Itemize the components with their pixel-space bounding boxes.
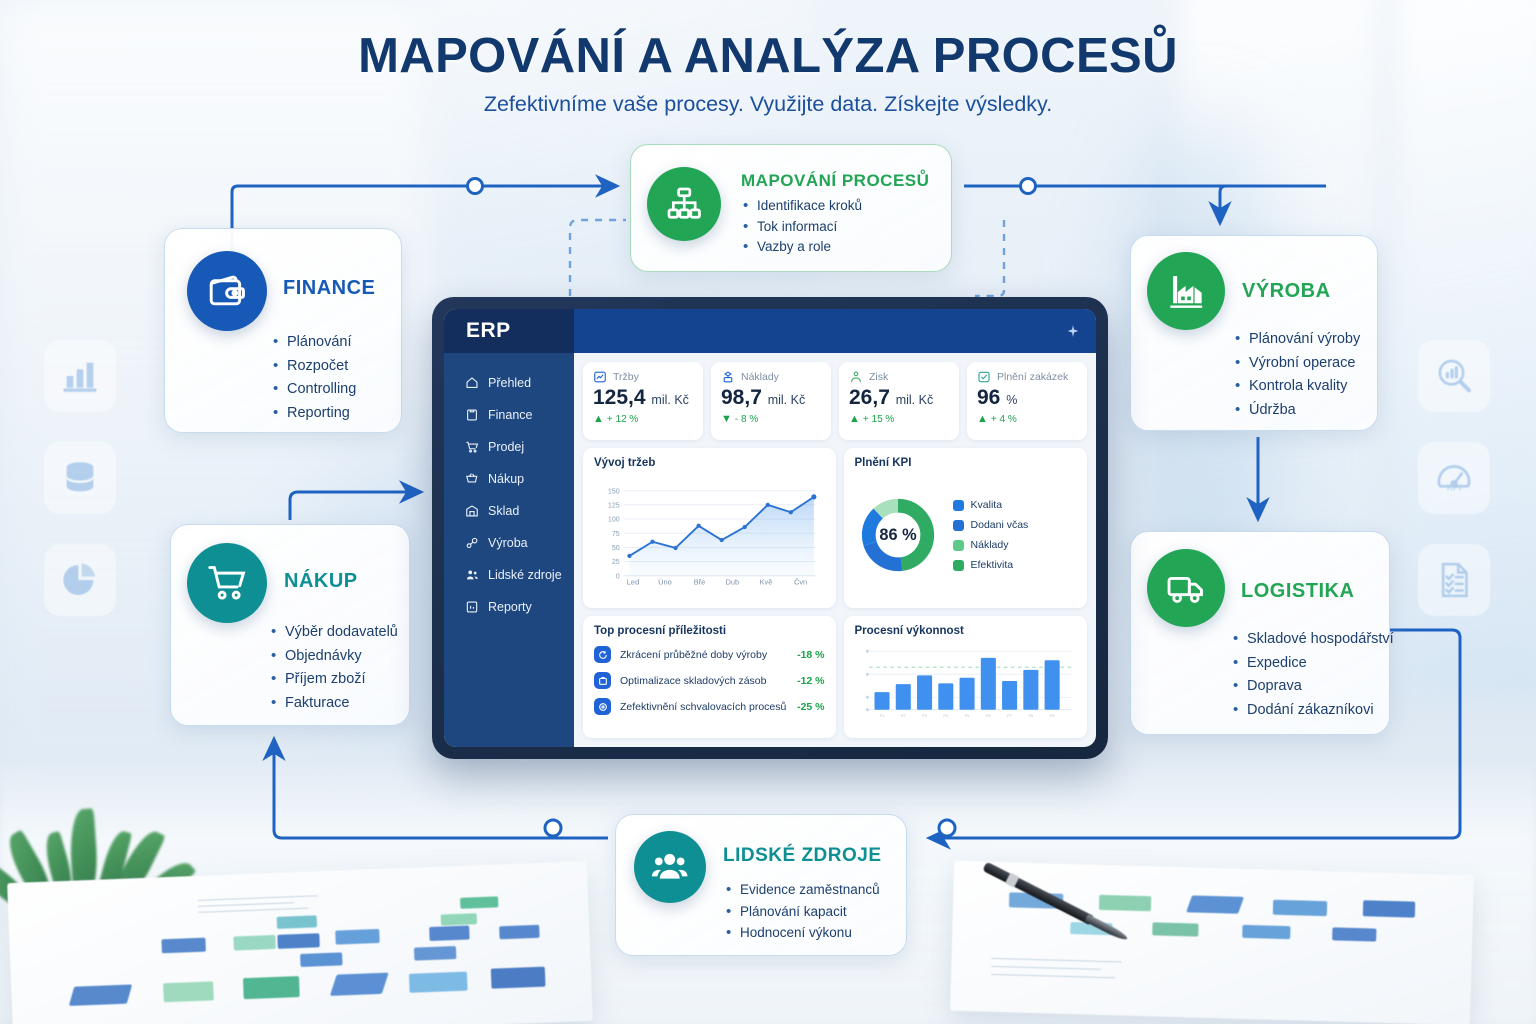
users-icon [465, 568, 479, 582]
sidebar-item-label: Prodej [488, 440, 524, 454]
list-item: Plánování kapacit [726, 905, 880, 919]
opportunity-value: -25 % [797, 701, 824, 713]
check-order-icon [977, 370, 991, 384]
kpi-header: Náklady [721, 370, 821, 384]
list-item: Rozpočet [273, 359, 356, 374]
legend-label: Kvalita [971, 499, 1003, 511]
card-bullet-list: Výběr dodavatelů Objednávky Příjem zboží… [271, 625, 398, 719]
kpi-delta: ▲+ 15 % [849, 413, 949, 425]
svg-text:P3: P3 [922, 713, 927, 718]
svg-text:Dub: Dub [725, 578, 739, 587]
trend-chart-icon [593, 370, 607, 384]
card-title: FINANCE [283, 277, 375, 300]
sparkle-icon [1066, 324, 1080, 338]
kpi-header: Plnění zakázek [977, 370, 1077, 384]
svg-text:P4: P4 [943, 713, 949, 718]
panel-procesni-vykonnost: Procesní výkonnost [844, 616, 1087, 738]
list-item: Tok informací [743, 220, 862, 234]
arrow-up-icon: ▲ [977, 413, 988, 425]
basket-icon [465, 472, 479, 486]
erp-application: ERP Přehled Finance Prodej [444, 309, 1096, 747]
kpi-delta-value: + 15 % [863, 414, 894, 425]
people-icon [634, 831, 706, 903]
kpi-card-zisk[interactable]: Zisk 26,7 mil. Kč ▲+ 15 % [839, 362, 959, 440]
sidebar-item-prehled[interactable]: Přehled [444, 367, 574, 399]
card-title: LIDSKÉ ZDROJE [723, 845, 882, 867]
svg-text:P5: P5 [964, 713, 969, 718]
legend-item: Dodani včas [953, 519, 1076, 531]
kpi-value: 96 % [977, 387, 1077, 409]
kpi-delta-value: + 4 % [991, 414, 1017, 425]
svg-text:P8: P8 [1028, 713, 1033, 718]
sitemap-icon [647, 167, 721, 241]
cost-stack-icon [721, 370, 735, 384]
card-logistika[interactable]: LOGISTIKA Skladové hospodářství Expedice… [1130, 531, 1390, 735]
card-bullet-list: Skladové hospodářství Expedice Doprava D… [1233, 632, 1394, 726]
svg-text:Čvn: Čvn [794, 578, 807, 587]
kpi-value: 26,7 mil. Kč [849, 387, 949, 409]
list-item: Evidence zaměstnanců [726, 883, 880, 897]
kpi-unit: % [1006, 393, 1017, 407]
sidebar-item-vyroba[interactable]: Výroba [444, 527, 574, 559]
legend-swatch [953, 560, 964, 571]
opportunity-label: Zkrácení průběžné doby výroby [620, 649, 788, 661]
svg-text:P2: P2 [900, 713, 905, 718]
sidebar-item-label: Přehled [488, 376, 531, 390]
kpi-value: 125,4 mil. Kč [593, 387, 693, 409]
svg-text:P7: P7 [1007, 713, 1012, 718]
arrow-up-icon: ▲ [849, 413, 860, 425]
x-axis-ticks: P1P2P3 P4P5P6 P7P8P9 [879, 713, 1054, 718]
kpi-label: Tržby [613, 371, 639, 383]
svg-text:Led: Led [627, 578, 639, 587]
kpi-header: Zisk [849, 370, 949, 384]
card-bullet-list: Plánování Rozpočet Controlling Reporting [273, 335, 356, 429]
kpi-card-plneni-zakazek[interactable]: Plnění zakázek 96 % ▲+ 4 % [967, 362, 1087, 440]
card-nakup[interactable]: NÁKUP Výběr dodavatelů Objednávky Příjem… [170, 524, 410, 726]
kpi-delta: ▲+ 12 % [593, 413, 693, 425]
legend-swatch [953, 500, 964, 511]
panel-title: Plnění KPI [855, 457, 1076, 469]
legend-label: Náklady [971, 539, 1009, 551]
legend-item: Kvalita [953, 499, 1076, 511]
list-item: Příjem zboží [271, 672, 398, 687]
list-item: Objednávky [271, 649, 398, 664]
target-icon [594, 698, 611, 715]
list-item: Expedice [1233, 656, 1394, 671]
printed-process-map-left [7, 861, 593, 1024]
kpi-card-row: Tržby 125,4 mil. Kč ▲+ 12 % Náklady 98,7… [583, 362, 1087, 440]
kpi-unit: mil. Kč [651, 393, 689, 407]
list-item: Identifikace kroků [743, 199, 862, 213]
kpi-card-trzby[interactable]: Tržby 125,4 mil. Kč ▲+ 12 % [583, 362, 703, 440]
card-vyroba[interactable]: VÝROBA Plánování výroby Výrobní operace … [1130, 235, 1378, 431]
bottom-row: Top procesní příležitosti Zkrácení průbě… [583, 616, 1087, 738]
erp-logo: ERP [444, 309, 574, 353]
svg-text:150: 150 [608, 487, 620, 495]
home-icon [465, 376, 479, 390]
erp-main-content: Tržby 125,4 mil. Kč ▲+ 12 % Náklady 98,7… [574, 353, 1096, 747]
opportunity-row[interactable]: Zkrácení průběžné doby výroby -18 % [594, 646, 825, 663]
bar-series [874, 658, 1059, 710]
kpi-unit: mil. Kč [896, 393, 934, 407]
opportunity-label: Optimalizace skladových zásob [620, 675, 788, 687]
report-icon [465, 600, 479, 614]
warehouse-icon [465, 504, 479, 518]
kpi-header: Tržby [593, 370, 693, 384]
card-title: MAPOVÁNÍ PROCESŮ [741, 171, 929, 191]
kpi-number: 98,7 [721, 386, 762, 409]
charts-row: Vývoj tržeb [583, 448, 1087, 608]
page-header: MAPOVÁNÍ A ANALÝZA PROCESŮ Zefektivníme … [0, 0, 1536, 117]
donut-chart-plneni-kpi: 86 % [855, 492, 941, 578]
list-item: Kontrola kvality [1235, 379, 1360, 394]
truck-icon [1147, 549, 1225, 627]
legend-swatch [953, 520, 964, 531]
panel-title: Top procesní příležitosti [594, 625, 825, 637]
list-item: Doprava [1233, 679, 1394, 694]
card-title: VÝROBA [1242, 280, 1331, 303]
erp-body: Přehled Finance Prodej Nákup Sklad [444, 353, 1096, 747]
legend-label: Efektivita [971, 559, 1014, 571]
bar-chart-procesni-vykonnost: P1P2P3 P4P5P6 P7P8P9 [855, 641, 1076, 727]
svg-text:0: 0 [616, 572, 620, 580]
sidebar-item-label: Výroba [488, 536, 528, 550]
svg-text:50: 50 [612, 544, 620, 552]
list-item: Controlling [273, 382, 356, 397]
erp-title-bar [574, 309, 1096, 353]
opportunity-row[interactable]: Optimalizace skladových zásob -12 % [594, 672, 825, 689]
kpi-label: Plnění zakázek [997, 371, 1068, 383]
legend-label: Dodani včas [971, 519, 1029, 531]
svg-text:Bře: Bře [694, 578, 706, 587]
list-item: Skladové hospodářství [1233, 632, 1394, 647]
svg-text:P6: P6 [985, 713, 990, 718]
kpi-card-naklady[interactable]: Náklady 98,7 mil. Kč ▼- 8 % [711, 362, 831, 440]
arrow-up-icon: ▲ [593, 413, 604, 425]
svg-text:P9: P9 [1049, 713, 1054, 718]
panel-top-prilezitosti: Top procesní příležitosti Zkrácení průbě… [583, 616, 836, 738]
legend-item: Efektivita [953, 559, 1076, 571]
y-axis-ticks [866, 650, 869, 711]
database-icon [44, 442, 116, 514]
wallet-icon [187, 251, 267, 331]
kpi-delta: ▼- 8 % [721, 413, 821, 425]
sidebar-item-finance[interactable]: Finance [444, 399, 574, 431]
page-title: MAPOVÁNÍ A ANALÝZA PROCESŮ [0, 28, 1536, 84]
chart-search-icon [1418, 340, 1490, 412]
list-item: Výběr dodavatelů [271, 625, 398, 640]
erp-sidebar: Přehled Finance Prodej Nákup Sklad [444, 353, 574, 747]
svg-text:25: 25 [612, 558, 620, 566]
list-item: Reporting [273, 406, 356, 421]
pie-chart-icon [44, 544, 116, 616]
x-axis-ticks: LedÚnoBře DubKvěČvn [627, 578, 807, 587]
tablet-device: ERP Přehled Finance Prodej [432, 297, 1108, 759]
list-item: Plánování [273, 335, 356, 350]
gear-flow-icon [465, 536, 479, 550]
shopping-cart-icon [187, 543, 267, 623]
list-item: Údržba [1235, 403, 1360, 418]
card-bullet-list: Identifikace kroků Tok informací Vazby a… [743, 199, 862, 261]
profit-icon [849, 370, 863, 384]
svg-text:Úno: Úno [658, 578, 672, 587]
sidebar-item-lidske-zdroje[interactable]: Lidské zdroje [444, 559, 574, 591]
sidebar-item-prodej[interactable]: Prodej [444, 431, 574, 463]
speed-icon [594, 646, 611, 663]
panel-title: Procesní výkonnost [855, 625, 1076, 637]
card-finance[interactable]: FINANCE Plánování Rozpočet Controlling R… [164, 228, 402, 433]
kpi-delta: ▲+ 4 % [977, 413, 1077, 425]
card-bullet-list: Plánování výroby Výrobní operace Kontrol… [1235, 332, 1360, 426]
clipboard-icon [465, 408, 479, 422]
kpi-value: 98,7 mil. Kč [721, 387, 821, 409]
kpi-gauge-icon: KPI [1418, 442, 1490, 514]
sidebar-item-label: Finance [488, 408, 532, 422]
sidebar-item-label: Nákup [488, 472, 524, 486]
card-title: NÁKUP [284, 570, 358, 593]
donut-legend: Kvalita Dodani včas Náklady Efektivita [949, 499, 1076, 571]
kpi-number: 125,4 [593, 386, 646, 409]
opportunity-value: -18 % [797, 649, 824, 661]
sidebar-item-label: Lidské zdroje [488, 568, 562, 582]
legend-swatch [953, 540, 964, 551]
list-item: Plánování výroby [1235, 332, 1360, 347]
card-title: LOGISTIKA [1241, 580, 1354, 603]
panel-plneni-kpi: Plnění KPI 86 % [844, 448, 1087, 608]
bar-chart-icon [44, 340, 116, 412]
y-axis-ticks: 150 125 100 75 50 25 0 [608, 487, 620, 580]
erp-top-bar: ERP [444, 309, 1096, 353]
opportunity-value: -12 % [797, 675, 824, 687]
sidebar-item-label: Sklad [488, 504, 519, 518]
kpi-number: 26,7 [849, 386, 890, 409]
list-item: Fakturace [271, 696, 398, 711]
svg-text:75: 75 [612, 530, 620, 538]
kpi-delta-value: - 8 % [735, 414, 758, 425]
factory-icon [1147, 252, 1225, 330]
cart-tag-icon [465, 440, 479, 454]
svg-text:125: 125 [608, 502, 620, 510]
kpi-number: 96 [977, 386, 1000, 409]
sidebar-item-nakup[interactable]: Nákup [444, 463, 574, 495]
kpi-label: Náklady [741, 371, 779, 383]
card-mapovani-procesu[interactable]: MAPOVÁNÍ PROCESŮ Identifikace kroků Tok … [630, 144, 952, 272]
checklist-icon [1418, 544, 1490, 616]
sidebar-item-label: Reporty [488, 600, 532, 614]
legend-item: Náklady [953, 539, 1076, 551]
list-item: Vazby a role [743, 240, 862, 254]
line-chart-vyvoj-trzeb: 150 125 100 75 50 25 0 [594, 473, 825, 597]
page-subtitle: Zefektivníme vaše procesy. Využijte data… [0, 92, 1536, 117]
box-icon [594, 672, 611, 689]
card-lidske-zdroje[interactable]: LIDSKÉ ZDROJE Evidence zaměstnanců Pláno… [615, 814, 907, 956]
kpi-unit: mil. Kč [768, 393, 806, 407]
kpi-label: Zisk [869, 371, 888, 383]
opportunity-label: Zefektivnění schvalovacích procesů [620, 701, 788, 713]
sidebar-item-sklad[interactable]: Sklad [444, 495, 574, 527]
kpi-delta-value: + 12 % [607, 414, 638, 425]
panel-vyvoj-trzeb: Vývoj tržeb [583, 448, 836, 608]
svg-text:Kvě: Kvě [760, 578, 773, 587]
svg-text:P1: P1 [879, 713, 884, 718]
list-item: Dodání zákazníkovi [1233, 703, 1394, 718]
sidebar-item-reporty[interactable]: Reporty [444, 591, 574, 623]
panel-title: Vývoj tržeb [594, 457, 825, 469]
list-item: Hodnocení výkonu [726, 926, 880, 940]
opportunity-row[interactable]: Zefektivnění schvalovacích procesů -25 % [594, 698, 825, 715]
arrow-down-icon: ▼ [721, 413, 732, 425]
list-item: Výrobní operace [1235, 356, 1360, 371]
card-bullet-list: Evidence zaměstnanců Plánování kapacit H… [726, 883, 880, 948]
svg-text:100: 100 [608, 516, 620, 524]
donut-center-label: 86 % [879, 526, 917, 544]
svg-text:KPI: KPI [1447, 483, 1462, 493]
